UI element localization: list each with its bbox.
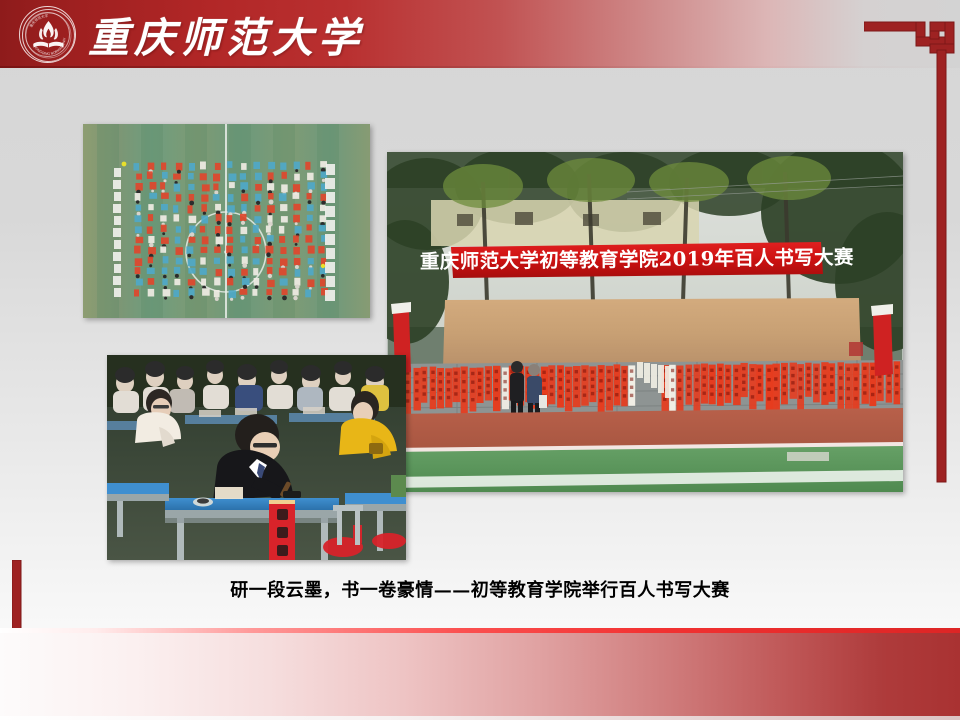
couplet-on-desk	[269, 500, 295, 560]
seal-emblem-icon: 重庆师范大学 CHONGQING NORMAL UNIVERSITY	[20, 7, 76, 63]
ceremony-illustration: 重庆师范大学初等教育学院2019年百人书写大赛	[387, 152, 903, 492]
svg-text:CHONGQING NORMAL UNIVERSITY: CHONGQING NORMAL UNIVERSITY	[20, 7, 67, 56]
footer-hairline	[0, 716, 960, 720]
slide-caption: 研一段云墨，书一卷豪情——初等教育学院举行百人书写大赛	[0, 576, 960, 602]
aerial-field-illustration	[83, 124, 370, 318]
presentation-slide: 重庆师范大学 CHONGQING NORMAL UNIVERSITY 重庆师范大…	[0, 0, 960, 720]
students-writing-illustration	[107, 355, 406, 560]
slide-footer-band	[0, 628, 960, 720]
university-seal-logo: 重庆师范大学 CHONGQING NORMAL UNIVERSITY	[19, 6, 76, 63]
university-name-title: 重庆师范大学	[88, 2, 364, 66]
photo-aerial-field[interactable]	[83, 124, 370, 318]
photo-ceremony-banner-wall[interactable]: 重庆师范大学初等教育学院2019年百人书写大赛	[387, 152, 903, 492]
banner-text: 重庆师范大学初等教育学院2019年百人书写大赛	[420, 246, 854, 274]
footer-accent-stripe	[0, 628, 960, 633]
photo-students-writing[interactable]	[107, 355, 406, 560]
